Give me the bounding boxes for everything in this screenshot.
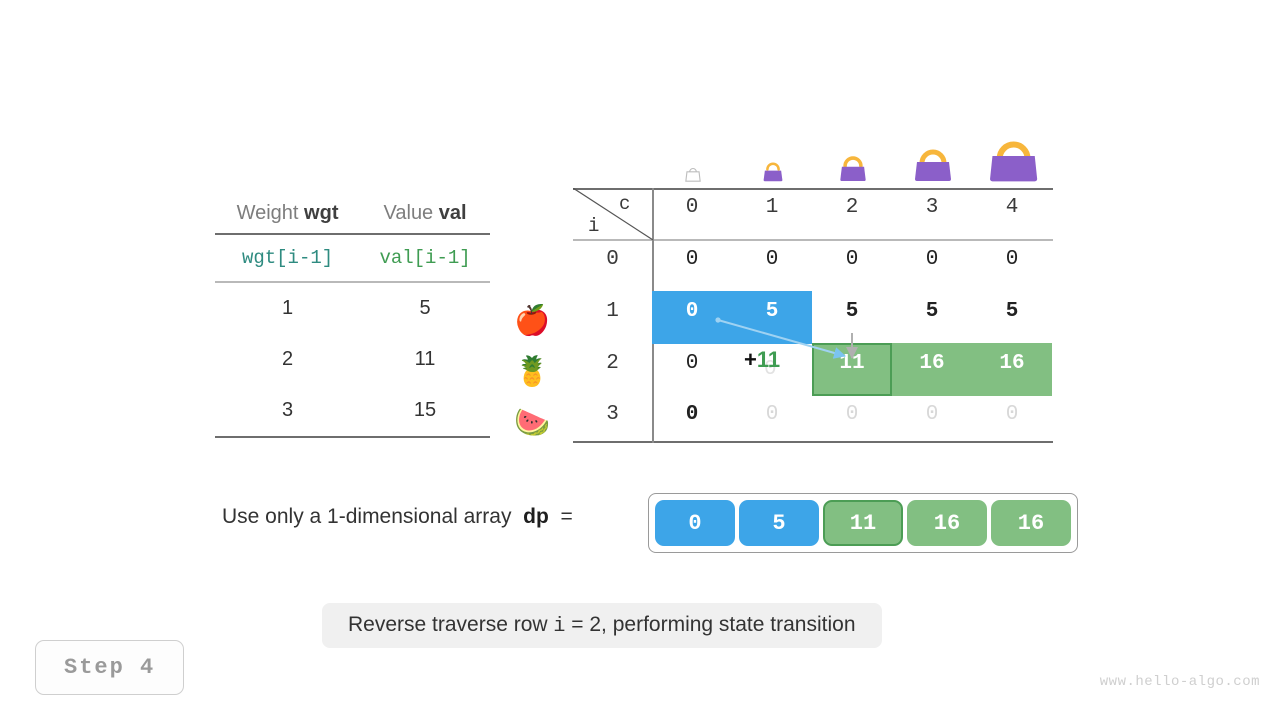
matrix-col-header-2: 2 [812,196,892,219]
matrix-cell-1-0: 0 [652,300,732,323]
matrix-row-header-1: 1 [573,300,652,323]
items-table-row: 3 15 [215,385,490,436]
watermark: www.hello-algo.com [1100,674,1260,690]
matrix-row-header-2: 2 [573,352,652,375]
matrix-corner-diagonal-icon [573,188,653,240]
fruit-icon-column: 🍎 🍍 🍉 [512,296,552,449]
matrix-cell-0-0: 0 [652,248,732,271]
item-weight: 3 [215,385,360,436]
bag-icon-1 [733,155,813,185]
bag-icon-empty [653,163,733,185]
item-value: 15 [360,385,490,436]
item-weight: 1 [215,283,360,334]
dp-array-label: Use only a 1-dimensional array dp = [222,505,573,529]
matrix-col-header-1: 1 [732,196,812,219]
matrix-cell-3-4: 0 [972,403,1052,426]
dp-array-container: 0 5 11 16 16 [648,493,1078,553]
matrix-cell-1-2: 5 [812,300,892,323]
dp-array-cell-0[interactable]: 0 [655,500,735,546]
watermelon-icon: 🍉 [512,398,552,449]
val-symbol: val[i-1] [360,235,490,281]
matrix-bottom-rule [573,441,1053,443]
matrix-cell-3-0: 0 [652,403,732,426]
matrix-cell-2-0: 0 [652,352,732,375]
matrix-cell-0-2: 0 [812,248,892,271]
items-table-header-value: Value val [360,193,490,233]
wgt-symbol: wgt[i-1] [215,235,360,281]
matrix-cell-3-3: 0 [892,403,972,426]
dp-array-cell-4[interactable]: 16 [991,500,1071,546]
transition-gain-label: +11 [744,347,780,373]
dp-array-equals: = [560,505,572,528]
items-table-row: 2 11 [215,334,490,385]
items-table-symbol-row: wgt[i-1] val[i-1] [215,235,490,281]
matrix-cell-0-1: 0 [732,248,812,271]
matrix-cell-2-2: 11 [812,352,892,375]
item-weight: 2 [215,334,360,385]
caption-banner: Reverse traverse row i = 2, performing s… [322,603,882,648]
pineapple-icon: 🍍 [512,347,552,398]
dp-array-cell-2[interactable]: 11 [823,500,903,546]
matrix-col-header-3: 3 [892,196,972,219]
matrix-corner-label-c: c [619,193,630,215]
matrix-col-header-0: 0 [652,196,732,219]
matrix-corner-label-i: i [588,215,599,237]
items-table-header-weight: Weight wgt [215,193,360,233]
caption-rest: = 2, performing state transition [571,613,855,636]
bag-icon-2 [813,147,893,185]
matrix-row-header-3: 3 [573,403,652,426]
item-value: 5 [360,283,490,334]
items-table-rule-bottom [215,436,490,438]
bag-icon-4 [973,127,1053,185]
matrix-cell-2-4: 16 [972,352,1052,375]
dp-matrix: c i 0 1 2 3 4 0 1 2 3 0 0 0 0 0 0 5 5 5 … [573,188,1053,443]
matrix-cell-2-3: 16 [892,352,972,375]
slide-canvas: Weight wgt Value val wgt[i-1] val[i-1] 1… [0,0,1280,720]
matrix-cell-0-4: 0 [972,248,1052,271]
item-value: 11 [360,334,490,385]
items-table: Weight wgt Value val wgt[i-1] val[i-1] 1… [215,193,490,438]
matrix-col-header-4: 4 [972,196,1052,219]
matrix-cell-0-3: 0 [892,248,972,271]
bag-capacity-icons [653,123,1053,185]
bag-icon-3 [893,137,973,185]
matrix-cell-1-1: 5 [732,300,812,323]
matrix-row-header-0: 0 [573,248,652,271]
apple-icon: 🍎 [512,296,552,347]
matrix-cell-1-3: 5 [892,300,972,323]
dp-array-name: dp [523,505,549,528]
matrix-cell-3-1: 0 [732,403,812,426]
matrix-cell-1-4: 5 [972,300,1052,323]
items-table-header-row: Weight wgt Value val [215,193,490,233]
step-badge: Step 4 [35,640,184,695]
dp-array-cell-1[interactable]: 5 [739,500,819,546]
dp-array-label-text: Use only a 1-dimensional array [222,505,511,528]
caption-variable: i [553,615,565,638]
matrix-cell-3-2: 0 [812,403,892,426]
items-table-row: 1 5 [215,283,490,334]
dp-array-cell-3[interactable]: 16 [907,500,987,546]
caption-prefix: Reverse traverse row [348,613,548,636]
